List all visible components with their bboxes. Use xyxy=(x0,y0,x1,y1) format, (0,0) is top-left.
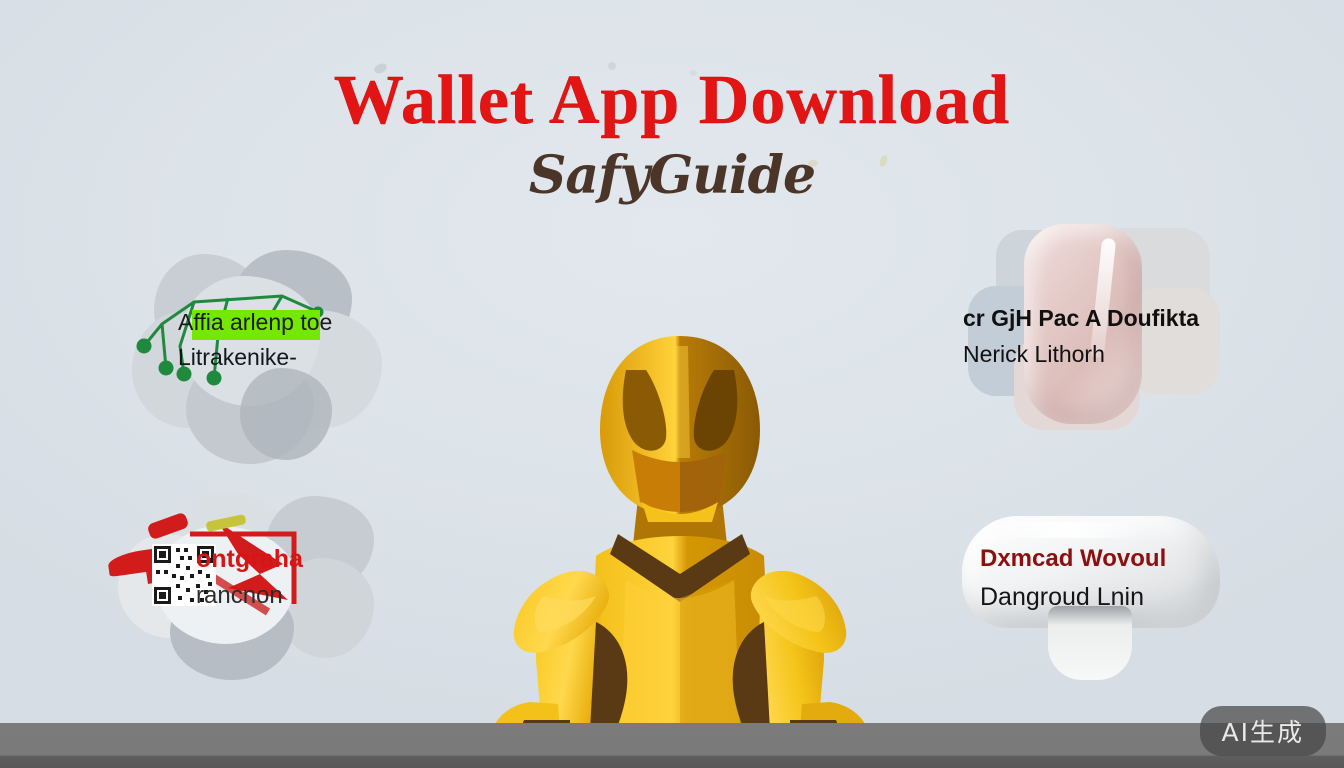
gloss-highlight xyxy=(992,522,1142,538)
callout-line-1: Affia arlenp toe xyxy=(178,308,428,337)
floor-bar xyxy=(0,723,1344,768)
callout-top-left[interactable]: Affia arlenp toe Litrakenike- xyxy=(132,250,382,465)
decor-speck xyxy=(608,62,616,70)
callout-line-2: Nerick Lithorh xyxy=(963,340,1215,369)
decor-speck xyxy=(878,154,888,168)
title-block: Wallet App Download SafyGuide xyxy=(0,66,1344,202)
page-subtitle: SafyGuide xyxy=(0,150,1344,202)
decor-speck xyxy=(807,159,818,168)
callout-top-right-text: cr GjH Pac A Doufikta Nerick Lithorh xyxy=(963,304,1215,369)
decor-speck xyxy=(690,70,697,76)
poster-canvas: Wallet App Download SafyGuide xyxy=(0,0,1344,768)
callout-line-1: cr GjH Pac A Doufikta xyxy=(963,304,1215,333)
callout-line-2: Dangroud Lnin xyxy=(980,582,1238,613)
callout-top-right[interactable]: cr GjH Pac A Doufikta Nerick Lithorh xyxy=(968,228,1220,433)
callout-line-2: rancnon xyxy=(196,581,451,611)
decor-speck xyxy=(373,62,389,76)
glossy-blob-icon xyxy=(1048,606,1132,680)
callout-bottom-right[interactable]: Dxmcad Wovoul Dangroud Lnin xyxy=(962,516,1220,684)
callout-bottom-right-text: Dxmcad Wovoul Dangroud Lnin xyxy=(980,544,1238,613)
callout-line-1: ontgraha xyxy=(196,544,451,575)
callout-bottom-left[interactable]: ontgraha rancnon xyxy=(118,492,373,682)
callout-top-left-text: Affia arlenp toe Litrakenike- xyxy=(178,308,428,372)
callout-bottom-left-text: ontgraha rancnon xyxy=(196,544,451,611)
page-title: Wallet App Download xyxy=(0,66,1344,136)
callout-line-2: Litrakenike- xyxy=(178,343,428,372)
ai-watermark-badge: AI生成 xyxy=(1200,706,1326,756)
golden-armored-knight xyxy=(420,330,940,730)
callout-line-1: Dxmcad Wovoul xyxy=(980,544,1238,574)
